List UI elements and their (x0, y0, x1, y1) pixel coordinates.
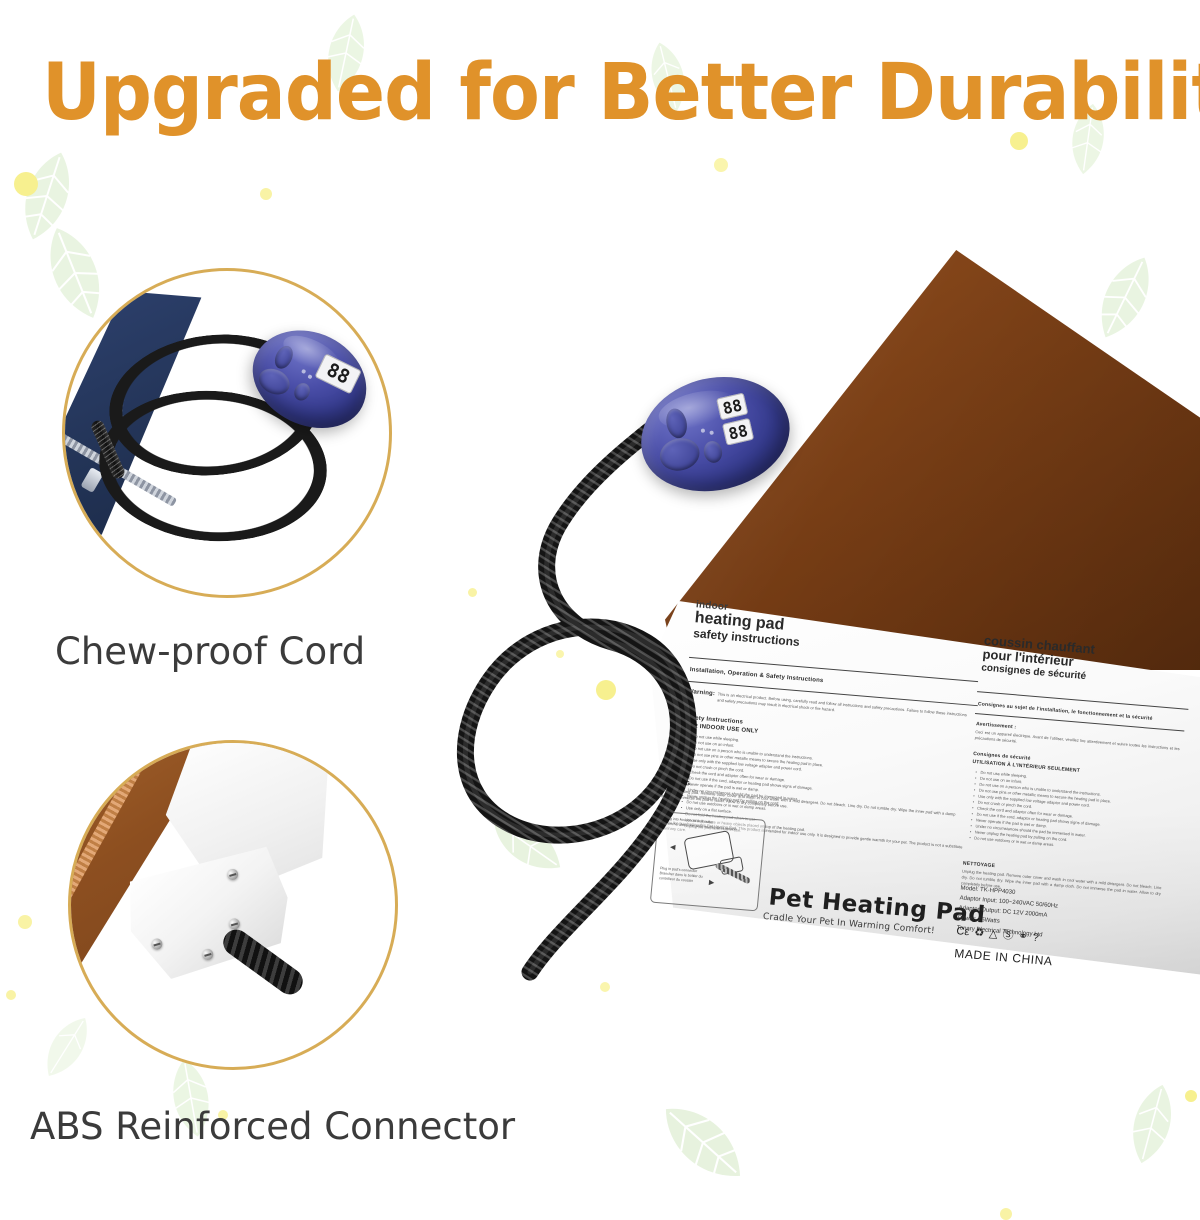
dot-decoration (714, 158, 728, 172)
inset-clip (71, 743, 395, 1067)
controller-body[interactable]: 88 88 (629, 363, 800, 506)
product-marketing-image: Upgraded for Better Durability indoor he… (0, 0, 1200, 1200)
screw-icon (226, 868, 240, 882)
led-indicator (709, 430, 714, 435)
inset-abs-connector (68, 740, 398, 1070)
inset-chew-proof-cord: 88 (62, 268, 392, 598)
caption-abs-connector: ABS Reinforced Connector (30, 1105, 515, 1148)
dot-decoration (6, 990, 16, 1000)
temp-up-button-inset (291, 380, 312, 403)
caption-chew-proof-cord: Chew-proof Cord (55, 630, 365, 673)
led-indicator (307, 374, 312, 379)
screw-icon (201, 948, 215, 962)
dot-decoration (14, 172, 38, 196)
temperature-display-secondary: 88 (722, 418, 754, 446)
dot-decoration (260, 188, 272, 200)
mode-button-inset (255, 364, 294, 400)
temp-up-button[interactable] (702, 439, 724, 464)
screw-icon (150, 937, 164, 951)
led-indicator (701, 428, 706, 433)
dot-decoration (1000, 1208, 1012, 1220)
dot-decoration (1185, 1090, 1197, 1102)
inset-clip: 88 (65, 271, 389, 595)
mode-button[interactable] (657, 434, 703, 474)
temperature-display-inset: 88 (314, 353, 361, 394)
temperature-display: 88 (716, 393, 748, 421)
leaf-icon (1110, 1073, 1195, 1175)
dot-decoration (18, 915, 32, 929)
page-title: Upgraded for Better Durability (42, 48, 1158, 138)
leaf-icon (24, 1001, 109, 1092)
led-indicator (301, 369, 306, 374)
temperature-controller[interactable]: 88 88 (640, 378, 790, 490)
leaf-icon (635, 1075, 771, 1209)
